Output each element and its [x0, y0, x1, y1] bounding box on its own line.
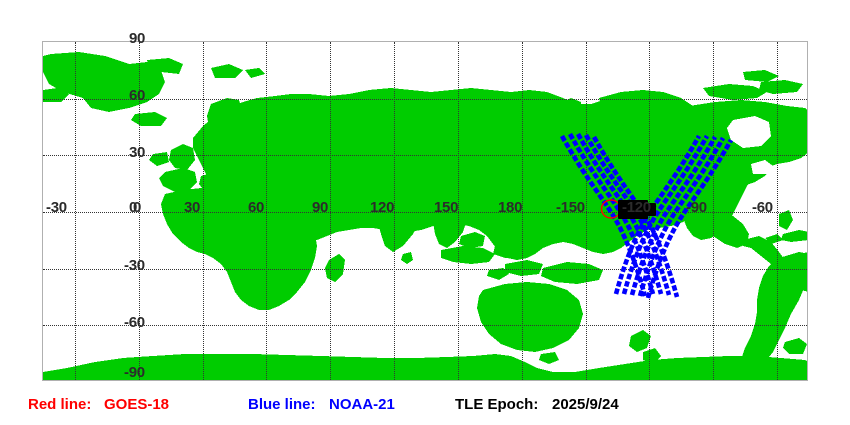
gridline-lon--30 [75, 42, 76, 380]
legend-red-value: GOES-18 [104, 392, 169, 418]
lat-tick-60: 60 [129, 88, 145, 103]
gridline-lon--60 [777, 42, 778, 380]
gridline-lat--30 [43, 269, 807, 270]
ground-track-map-page: -30 0 30 60 90 120 150 180 -150 -120 -90… [0, 0, 850, 425]
legend-bar: Red line: GOES-18 Blue line: NOAA-21 TLE… [0, 392, 850, 418]
lon-tick--90: -90 [686, 200, 707, 215]
lat-tick--30: -30 [124, 258, 145, 273]
legend-blue-value: NOAA-21 [329, 392, 395, 418]
lon-tick-60: 60 [248, 200, 264, 215]
lon-tick--120: -120 [622, 200, 651, 215]
gridline-lat--60 [43, 325, 807, 326]
gridline-lon-90 [330, 42, 331, 380]
gridline-lon--90 [713, 42, 714, 380]
lat-tick-30: 30 [129, 145, 145, 160]
lat-tick--90: -90 [124, 365, 145, 380]
legend-blue-label: Blue line: [248, 392, 316, 418]
gridline-lat-60 [43, 99, 807, 100]
lat-tick-90: 90 [129, 31, 145, 46]
lon-tick--150: -150 [556, 200, 585, 215]
gridline-lon-120 [394, 42, 395, 380]
lon-tick--30: -30 [46, 200, 67, 215]
lon-tick-150: 150 [434, 200, 458, 215]
legend-epoch-value: 2025/9/24 [552, 392, 619, 418]
legend-epoch-label: TLE Epoch: [455, 392, 538, 418]
gridline-lon-30 [203, 42, 204, 380]
lon-tick-120: 120 [370, 200, 394, 215]
lon-tick-30: 30 [184, 200, 200, 215]
gridline-lat-30 [43, 155, 807, 156]
lon-tick-180: 180 [498, 200, 522, 215]
lat-tick--60: -60 [124, 315, 145, 330]
gridline-lon-60 [266, 42, 267, 380]
lon-tick--60: -60 [752, 200, 773, 215]
legend-red-label: Red line: [28, 392, 91, 418]
lon-tick-90: 90 [312, 200, 328, 215]
lat-tick-0: 0 [133, 200, 141, 215]
gridline-lon--150 [586, 42, 587, 380]
